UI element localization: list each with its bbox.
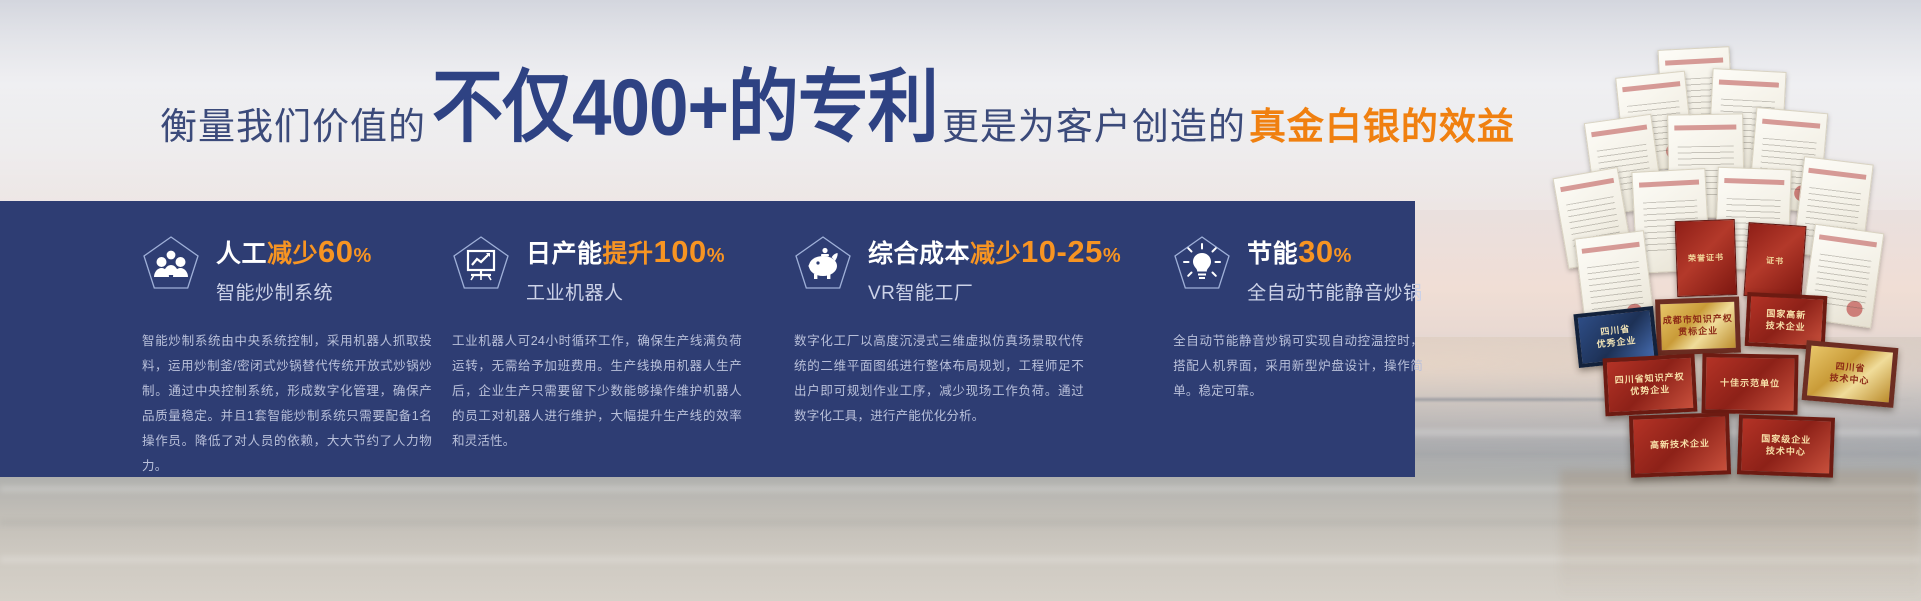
lightbulb-icon	[1173, 235, 1231, 291]
feature-title-number: 60	[318, 234, 353, 269]
feature-block-4: 节能30% 全自动节能静音炒锅 全自动节能静音炒锅可实现自动控温控时，搭配人机界…	[1121, 201, 1423, 477]
feature-title-number: 30	[1298, 234, 1333, 269]
feature-title-prefix: 节能	[1247, 240, 1298, 268]
headline: 衡量我们价值的 不仅400+的专利 更是为客户创造的 真金白银的效益	[160, 78, 1470, 148]
award-plaque: 成都市知识产权贯标企业	[1655, 297, 1741, 356]
headline-lead: 衡量我们价值的	[160, 108, 426, 148]
feature-panel: 人工减少60% 智能炒制系统 智能炒制系统由中央系统控制，采用机器人抓取投料，运…	[0, 201, 1415, 477]
feature-block-3: 综合成本减少10-25% VR智能工厂 数字化工厂以高度沉浸式三维虚拟仿真场景取…	[742, 201, 1121, 477]
headline-highlight: 真金白银的效益	[1246, 108, 1515, 148]
feature-title-2: 日产能提升100%	[526, 235, 725, 270]
feature-body-2: 工业机器人可24小时循环工作，确保生产线满负荷运转，无需给予加班费用。生产线换用…	[452, 329, 742, 454]
feature-title-unit: %	[707, 245, 725, 267]
feature-title-unit: %	[1103, 245, 1121, 267]
banner-stage: 衡量我们价值的 不仅400+的专利 更是为客户创造的 真金白银的效益	[0, 0, 1921, 601]
people-group-icon	[142, 235, 200, 291]
certificate-book: 荣誉证书	[1675, 219, 1738, 297]
award-plaque: 国家级企业技术中心	[1737, 414, 1835, 477]
feature-body-3: 数字化工厂以高度沉浸式三维虚拟仿真场景取代传统的二维平面图纸进行整体布局规划，工…	[794, 329, 1084, 429]
feature-title-highlight: 提升	[603, 240, 654, 268]
feature-title-number: 100	[654, 234, 707, 269]
feature-body-4: 全自动节能静音炒锅可实现自动控温控时，搭配人机界面，采用新型炉盘设计，操作简单。…	[1173, 329, 1423, 404]
feature-title-prefix: 日产能	[526, 240, 603, 268]
feature-title-1: 人工减少60%	[216, 235, 372, 270]
feature-title-highlight: 减少	[267, 240, 318, 268]
feature-subtitle-2: 工业机器人	[526, 278, 725, 305]
feature-title-prefix: 综合成本	[868, 240, 970, 268]
award-plaque: 高新技术企业	[1629, 412, 1731, 477]
feature-title-unit: %	[354, 245, 372, 267]
feature-title-unit: %	[1334, 245, 1352, 267]
feature-block-2: 日产能提升100% 工业机器人 工业机器人可24小时循环工作，确保生产线满负荷运…	[400, 201, 742, 477]
feature-title-number: 10-25	[1021, 234, 1103, 269]
feature-title-prefix: 人工	[216, 240, 267, 268]
feature-body-1: 智能炒制系统由中央系统控制，采用机器人抓取投料，运用炒制釜/密闭式炒锅替代传统开…	[142, 329, 432, 479]
headline-middle: 更是为客户创造的	[942, 108, 1246, 148]
chart-board-icon	[452, 235, 510, 291]
feature-title-highlight: 减少	[970, 240, 1021, 268]
feature-subtitle-1: 智能炒制系统	[216, 278, 372, 305]
certificate-and-award-pile: 荣誉证书 证书 成都市知识产权贯标企业 国家高新技术企业 四川省优秀企业 四川省…	[1560, 48, 1920, 601]
headline-emphasis: 不仅400+的专利	[426, 68, 942, 148]
feature-block-1: 人工减少60% 智能炒制系统 智能炒制系统由中央系统控制，采用机器人抓取投料，运…	[0, 201, 400, 477]
award-plaque: 四川省知识产权优势企业	[1603, 354, 1698, 417]
feature-title-4: 节能30%	[1247, 235, 1423, 270]
award-plaque: 四川省技术中心	[1802, 340, 1899, 408]
certificate-book: 证书	[1743, 222, 1806, 300]
feature-subtitle-4: 全自动节能静音炒锅	[1247, 278, 1423, 305]
piggy-bank-icon	[794, 235, 852, 291]
feature-title-3: 综合成本减少10-25%	[868, 235, 1121, 270]
award-plaque: 十佳示范单位	[1701, 353, 1798, 415]
feature-subtitle-3: VR智能工厂	[868, 278, 1121, 305]
